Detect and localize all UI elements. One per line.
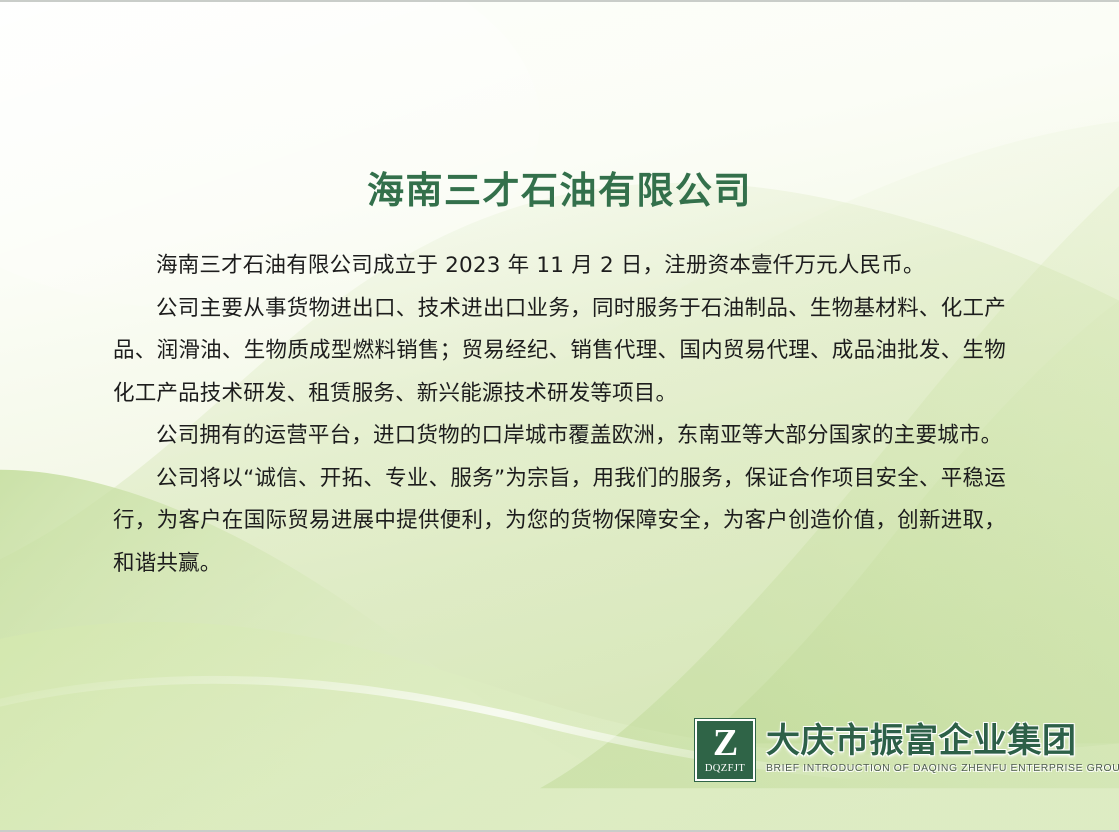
logo-abbreviation: DQZFJT	[705, 763, 745, 774]
paragraph: 公司拥有的运营平台，进口货物的口岸城市覆盖欧洲，东南亚等大部分国家的主要城市。	[113, 415, 1006, 458]
company-description: 海南三才石油有限公司成立于 2023 年 11 月 2 日，注册资本壹仟万元人民…	[113, 245, 1006, 585]
slide-canvas: 海南三才石油有限公司 海南三才石油有限公司成立于 2023 年 11 月 2 日…	[0, 0, 1119, 832]
logo-letter-z: Z	[713, 724, 737, 762]
paragraph: 公司将以“诚信、开拓、专业、服务”为宗旨，用我们的服务，保证合作项目安全、平稳运…	[113, 458, 1006, 586]
logo-company-name-cn: 大庆市振富企业集团	[766, 722, 1119, 760]
logo-company-name-en: BRIEF INTRODUCTION OF DAQING ZHENFU ENTE…	[766, 762, 1119, 775]
logo-mark-icon: Z DQZFJT	[694, 718, 756, 782]
company-logo: Z DQZFJT 大庆市振富企业集团 BRIEF INTRODUCTION OF…	[694, 718, 1119, 782]
logo-mark-inner: Z DQZFJT	[697, 721, 753, 779]
paragraph: 公司主要从事货物进出口、技术进出口业务，同时服务于石油制品、生物基材料、化工产品…	[113, 288, 1006, 416]
page-title: 海南三才石油有限公司	[0, 160, 1119, 214]
logo-text-block: 大庆市振富企业集团 BRIEF INTRODUCTION OF DAQING Z…	[766, 718, 1119, 775]
paragraph: 海南三才石油有限公司成立于 2023 年 11 月 2 日，注册资本壹仟万元人民…	[113, 245, 1006, 288]
